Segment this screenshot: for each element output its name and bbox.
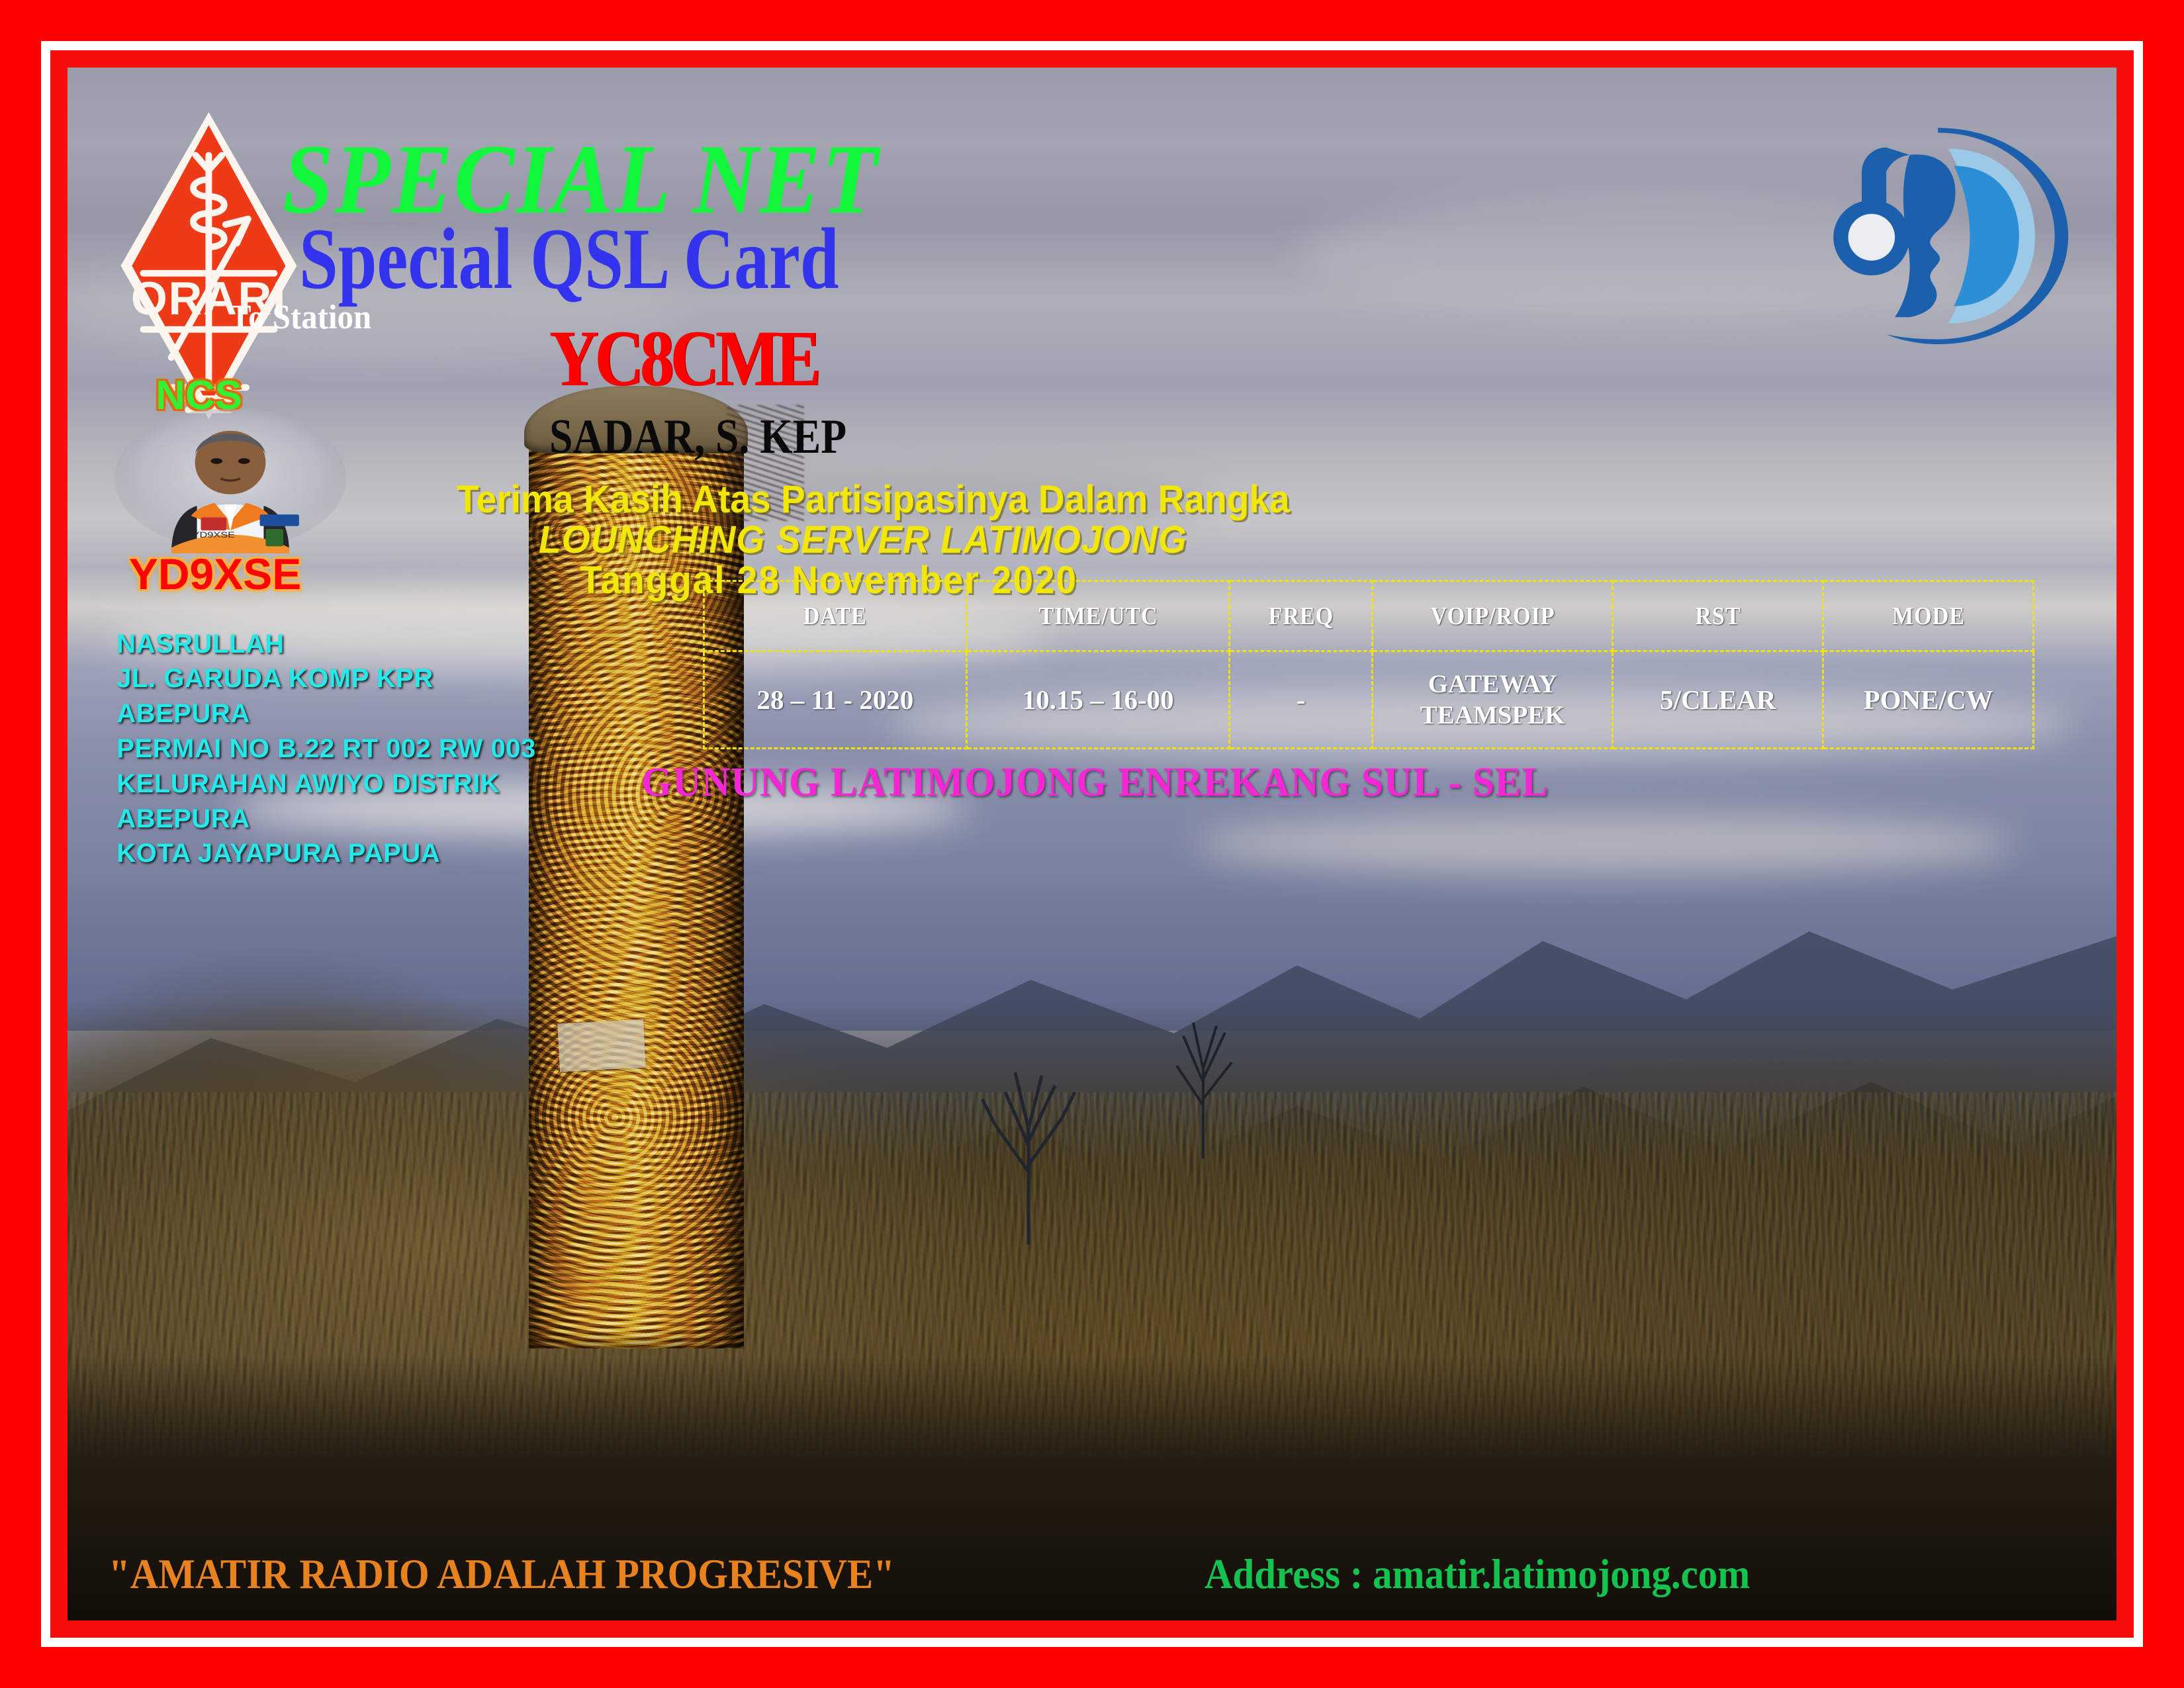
page-subtitle: Special QSL Card (299, 215, 839, 303)
card-background-photo: ORARI SPECIAL NET Special QSL Card To St… (68, 68, 2116, 1620)
cell-voip-line1: GATEWAY (1373, 669, 1612, 700)
footer-web-address: Address : amatir.latimojong.com (1205, 1553, 1750, 1595)
table-row: 28 – 11 - 2020 10.15 – 16-00 - GATEWAY T… (704, 651, 2033, 749)
operator-name: SADAR, S. KEP (549, 412, 846, 461)
address-line: ABEPURA (116, 802, 535, 837)
bare-tree-silhouette (969, 1046, 970, 1201)
cell-date: 28 – 11 - 2020 (704, 651, 966, 749)
cell-rst: 5/CLEAR (1613, 651, 1823, 749)
card-border-gap: ORARI SPECIAL NET Special QSL Card To St… (41, 41, 2143, 1647)
address-line: PERMAI NO B.22 RT 002 RW 003 (116, 731, 535, 767)
location-label: GUNUNG LATIMOJONG ENREKANG SUL - SEL (641, 762, 1549, 803)
station-address: NASRULLAH JL. GARUDA KOMP KPR ABEPURA PE… (116, 627, 535, 872)
qso-log-table: DATE TIME/UTC FREQ VOIP/ROIP RST MODE 28… (703, 580, 2034, 749)
ncs-callsign: YD9XSE (129, 552, 301, 596)
address-line: KOTA JAYAPURA PAPUA (116, 836, 535, 871)
footer-slogan: "AMATIR RADIO ADALAH PROGRESIVE" (109, 1553, 895, 1595)
cell-time: 10.15 – 16-00 (967, 651, 1230, 749)
card-inner-border: ORARI SPECIAL NET Special QSL Card To St… (50, 50, 2134, 1638)
table-header-row: DATE TIME/UTC FREQ VOIP/ROIP RST MODE (704, 581, 2033, 651)
column-header-voip: VOIP/ROIP (1385, 581, 1601, 651)
column-header-freq: FREQ (1237, 581, 1365, 651)
cell-freq: - (1230, 651, 1373, 749)
pillar-plaque (557, 1019, 646, 1072)
cell-voip-line2: TEAMSPEK (1373, 700, 1612, 731)
address-line: ABEPURA (116, 696, 535, 731)
uniform-patch-text: YD9XSE (193, 531, 235, 539)
column-header-date: DATE (717, 581, 954, 651)
column-header-mode: MODE (1834, 581, 2023, 651)
station-callsign: YC8CME (549, 320, 817, 400)
qsl-card: ORARI SPECIAL NET Special QSL Card To St… (0, 0, 2184, 1688)
event-thanks-line: Terima Kasih Atas Partisipasinya Dalam R… (457, 481, 1290, 519)
bare-tree-silhouette (1154, 1000, 1154, 1155)
column-header-rst: RST (1623, 581, 1813, 651)
cell-voip: GATEWAY TEAMSPEK (1373, 651, 1613, 749)
cell-mode: PONE/CW (1823, 651, 2034, 749)
to-station-label: To Station (230, 301, 371, 335)
address-line: JL. GARUDA KOMP KPR (116, 661, 535, 696)
event-name-line: LOUNCHING SERVER LATIMOJONG (539, 521, 1187, 559)
address-line: NASRULLAH (116, 627, 535, 662)
headset-profile-logo (1827, 108, 2085, 364)
column-header-time: TIME/UTC (979, 581, 1216, 651)
operator-photo: YD9XSE (113, 409, 348, 553)
address-line: KELURAHAN AWIYO DISTRIK (116, 767, 535, 802)
